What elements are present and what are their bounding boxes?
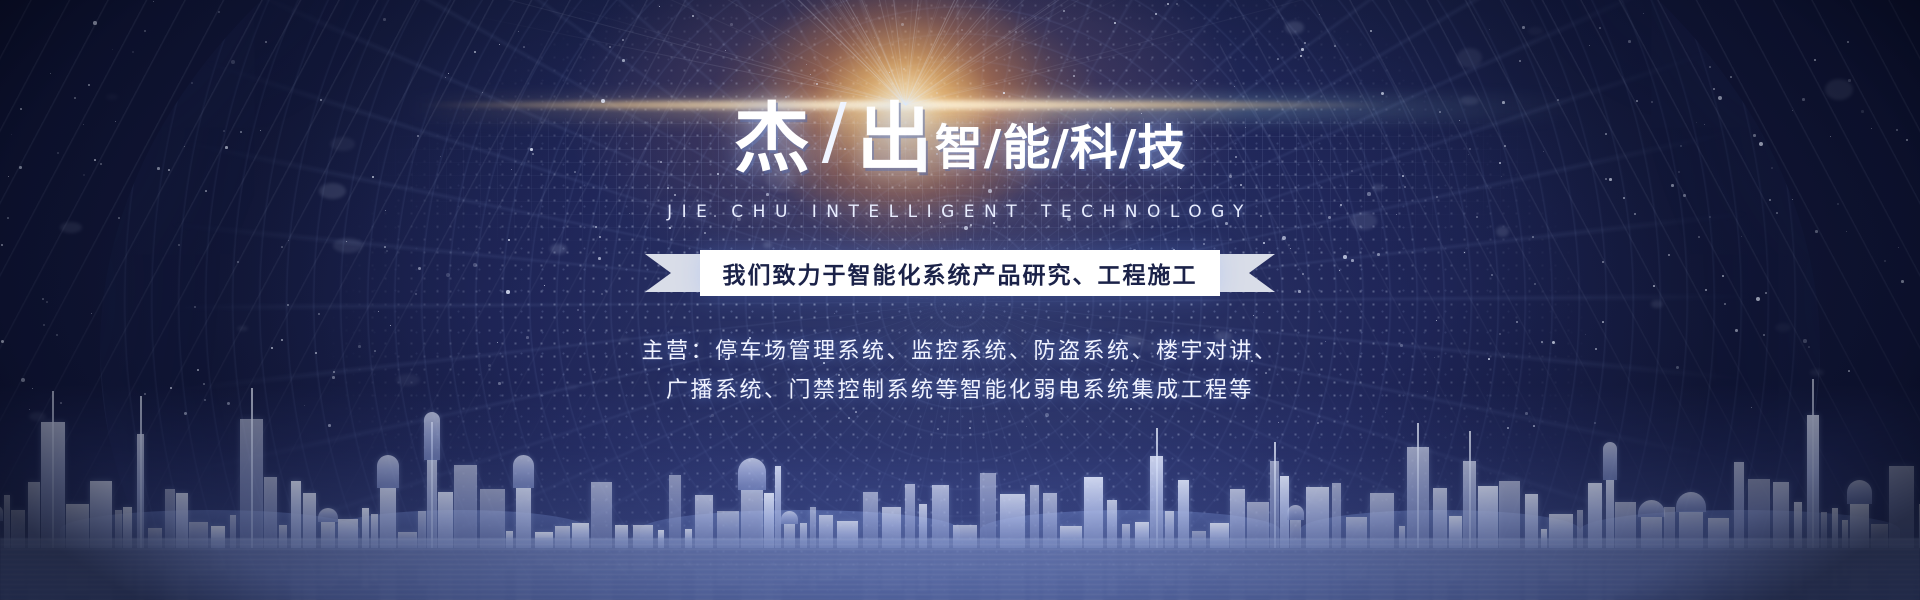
- description-block: 主营：停车场管理系统、监控系统、防盗系统、楼宇对讲、 广播系统、门禁控制系统等智…: [0, 333, 1920, 410]
- ribbon-banner: 我们致力于智能化系统产品研究、工程施工: [645, 250, 1275, 296]
- ribbon-bar: 我们致力于智能化系统产品研究、工程施工: [700, 250, 1220, 296]
- title-sub-cn: 智/能/科/技: [935, 124, 1187, 176]
- description-line-1: 主营：停车场管理系统、监控系统、防盗系统、楼宇对讲、: [0, 333, 1920, 372]
- title-char-1: 杰: [734, 102, 812, 176]
- title-slash-1: /: [812, 88, 857, 176]
- title-row: 杰 / 出 智/能/科/技: [0, 88, 1920, 176]
- hero-banner: 杰 / 出 智/能/科/技 JIE CHU INTELLIGENT TECHNO…: [0, 0, 1920, 600]
- ribbon-tail-left: [645, 254, 707, 292]
- description-line-2: 广播系统、门禁控制系统等智能化弱电系统集成工程等: [0, 372, 1920, 411]
- title-char-2: 出: [857, 102, 935, 176]
- ribbon-tail-right: [1213, 254, 1275, 292]
- subtitle-english: JIE CHU INTELLIGENT TECHNOLOGY: [0, 202, 1920, 222]
- ribbon-text: 我们致力于智能化系统产品研究、工程施工: [723, 256, 1198, 290]
- banner-content: 杰 / 出 智/能/科/技 JIE CHU INTELLIGENT TECHNO…: [0, 0, 1920, 600]
